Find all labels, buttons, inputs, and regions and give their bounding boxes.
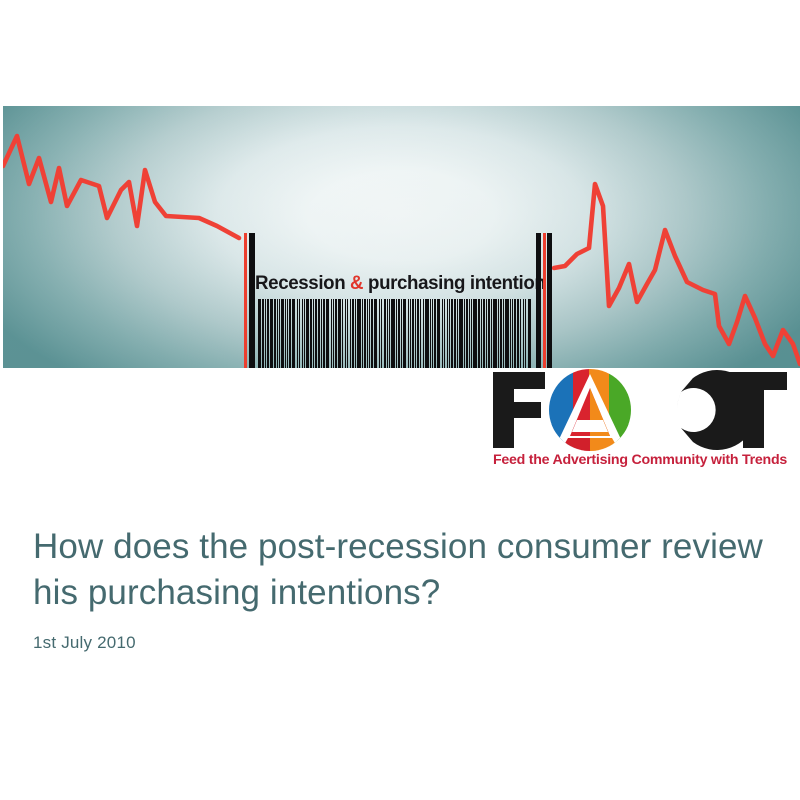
barcode-bar xyxy=(437,299,440,368)
barcode-bar xyxy=(345,299,347,368)
barcode-bar xyxy=(270,299,273,368)
barcode-guard-bar-right-b xyxy=(547,233,552,368)
barcode-bar xyxy=(352,299,354,368)
barcode-bar xyxy=(464,299,465,368)
barcode-bar xyxy=(488,299,489,368)
barcode-bar xyxy=(292,299,295,368)
presentation-date: 1st July 2010 xyxy=(33,633,763,653)
page-title: How does the post-recession consumer rev… xyxy=(33,524,763,616)
barcode-bar xyxy=(408,299,409,368)
logo-tagline: Feed the Advertising Community with Tren… xyxy=(487,452,793,468)
barcode-bar xyxy=(398,299,400,368)
fact-wordmark-icon xyxy=(487,368,793,452)
barcode-bar xyxy=(323,299,325,368)
barcode-bar xyxy=(262,299,263,368)
barcode-bar xyxy=(362,299,363,368)
barcode-bar xyxy=(403,299,406,368)
barcode-rail-right-icon xyxy=(543,233,546,368)
barcode-bar xyxy=(491,299,493,368)
barcode-bar xyxy=(454,299,456,368)
barcode-bar xyxy=(310,299,311,368)
barcode-bar xyxy=(389,299,390,368)
barcode-bar xyxy=(379,299,380,368)
barcode-bar xyxy=(486,299,487,368)
barcode-bar xyxy=(466,299,468,368)
barcode-bar xyxy=(447,299,448,368)
barcode-bar xyxy=(420,299,421,368)
barcode-bar xyxy=(364,299,366,368)
barcode-bar xyxy=(279,299,280,368)
barcode-bar xyxy=(503,299,504,368)
barcode-bar xyxy=(315,299,316,368)
barcode-bar xyxy=(299,299,301,368)
barcode-bar xyxy=(338,299,341,368)
barcode-bar xyxy=(347,299,348,368)
fact-logo: Feed the Advertising Community with Tren… xyxy=(487,368,793,478)
barcode-bars xyxy=(244,299,556,368)
barcode-bar xyxy=(457,299,458,368)
barcode-bar xyxy=(374,299,377,368)
barcode-bar xyxy=(434,299,436,368)
barcode-bar xyxy=(473,299,476,368)
barcode-bar xyxy=(277,299,278,368)
barcode-bar xyxy=(367,299,368,368)
barcode-bar xyxy=(528,299,531,368)
barcode-bar xyxy=(302,299,303,368)
barcode-bar xyxy=(342,299,343,368)
barcode-bar xyxy=(471,299,472,368)
barcode-guard-bar-right-a xyxy=(536,233,541,368)
barcode-bar xyxy=(391,299,394,368)
barcode-bar xyxy=(514,299,516,368)
barcode-bar xyxy=(384,299,386,368)
barcode-bar xyxy=(258,299,261,368)
barcode-bar xyxy=(369,299,370,368)
barcode-bar xyxy=(318,299,320,368)
barcode-bar xyxy=(525,299,526,368)
barcode-guard-bar-left xyxy=(249,233,255,368)
barcode-bar xyxy=(306,299,309,368)
barcode-bar xyxy=(425,299,428,368)
barcode-label-before: Recession xyxy=(255,272,350,294)
barcode-bar xyxy=(442,299,443,368)
barcode-bar xyxy=(505,299,508,368)
barcode-bar xyxy=(417,299,419,368)
barcode-label-ampersand: & xyxy=(350,272,363,294)
barcode-bar xyxy=(410,299,411,368)
barcode-bar xyxy=(381,299,383,368)
barcode-bar xyxy=(401,299,402,368)
barcode-bar xyxy=(432,299,433,368)
barcode-label-after: purchasing intention xyxy=(363,272,545,294)
barcode-bar xyxy=(335,299,337,368)
barcode-bar xyxy=(430,299,431,368)
barcode-bar xyxy=(520,299,521,368)
barcode-bar xyxy=(478,299,480,368)
barcode-bar xyxy=(512,299,513,368)
barcode-bar xyxy=(523,299,525,368)
barcode-bar xyxy=(481,299,482,368)
barcode-bar xyxy=(321,299,322,368)
barcode-bar xyxy=(387,299,388,368)
barcode-bar xyxy=(326,299,329,368)
barcode-bar xyxy=(451,299,453,368)
barcode-bar xyxy=(297,299,298,368)
barcode-bar xyxy=(350,299,351,368)
barcode-bar xyxy=(459,299,462,368)
presentation-slide: Recession & purchasing intention xyxy=(0,0,800,800)
barcode-bar xyxy=(444,299,446,368)
barcode-bar xyxy=(304,299,305,368)
barcode-bar xyxy=(313,299,315,368)
barcode-bar xyxy=(396,299,397,368)
barcode-bar xyxy=(285,299,286,368)
hero-banner: Recession & purchasing intention xyxy=(3,106,800,368)
barcode-bar xyxy=(371,299,373,368)
barcode-bar xyxy=(483,299,485,368)
barcode-bar xyxy=(281,299,283,368)
barcode-bar xyxy=(274,299,276,368)
barcode-bar xyxy=(517,299,519,368)
barcode-bar xyxy=(415,299,416,368)
barcode-bar xyxy=(493,299,496,368)
barcode-bar xyxy=(331,299,332,368)
title-block: How does the post-recession consumer rev… xyxy=(33,524,763,653)
barcode-bar xyxy=(355,299,356,368)
barcode-rail-left-icon xyxy=(244,233,247,368)
barcode-bar xyxy=(267,299,268,368)
barcode-bar xyxy=(265,299,267,368)
barcode-bar xyxy=(357,299,360,368)
barcode-bar xyxy=(500,299,502,368)
barcode-bar xyxy=(289,299,291,368)
barcode-bar xyxy=(449,299,450,368)
barcode-graphic: Recession & purchasing intention xyxy=(244,266,556,368)
barcode-bar xyxy=(423,299,425,368)
barcode-bar xyxy=(333,299,334,368)
barcode-bar xyxy=(469,299,470,368)
barcode-label: Recession & purchasing intention xyxy=(244,266,556,300)
barcode-bar xyxy=(287,299,288,368)
barcode-bar xyxy=(498,299,499,368)
barcode-bar xyxy=(412,299,414,368)
barcode-bar xyxy=(510,299,511,368)
